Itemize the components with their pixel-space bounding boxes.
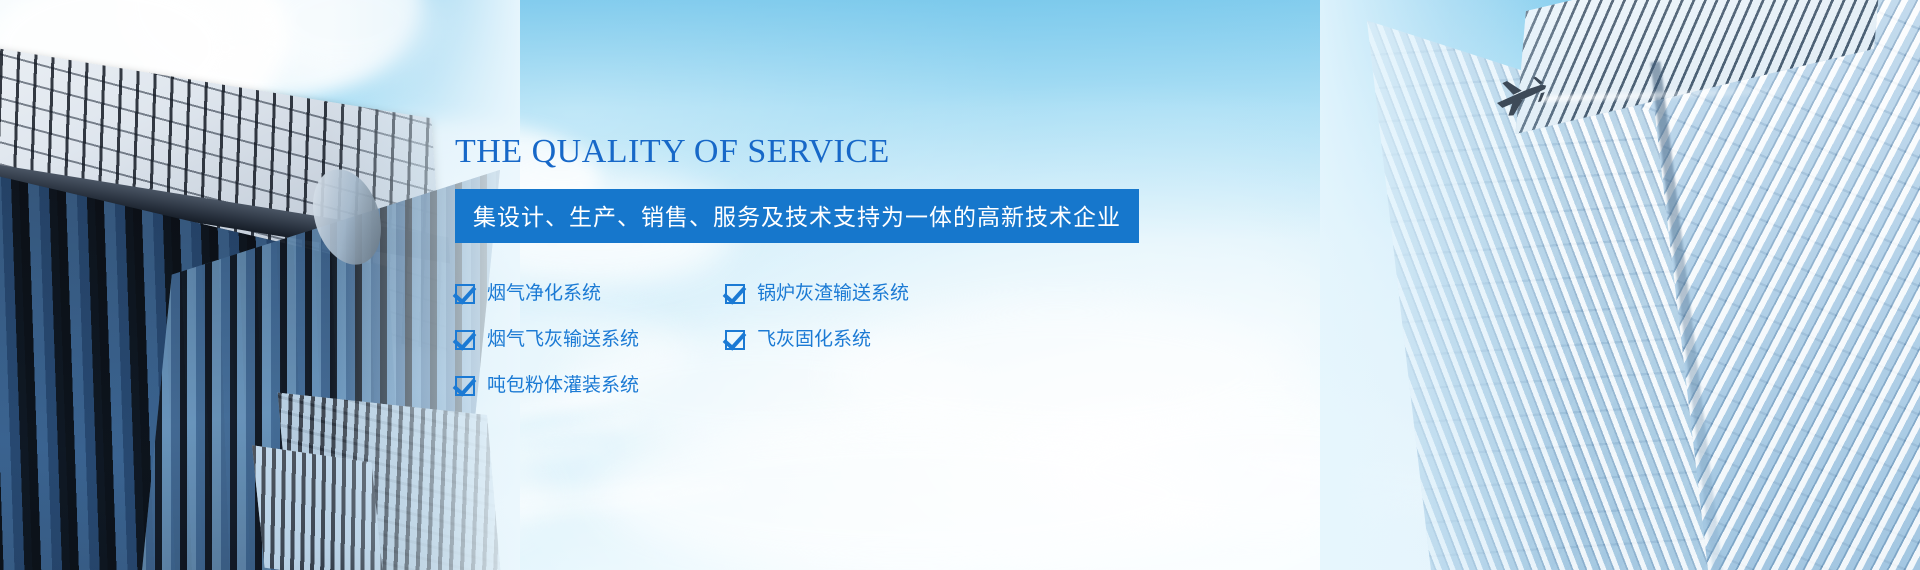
- airplane-group: [1490, 70, 1850, 130]
- service-column-left: 烟气飞灰输送系统: [455, 317, 725, 363]
- service-row: 吨包粉体灌装系统: [455, 363, 1215, 409]
- service-row: 烟气飞灰输送系统 飞灰固化系统: [455, 317, 1215, 363]
- headline-english: THE QUALITY OF SERVICE: [455, 132, 1215, 173]
- left-skyscraper: [0, 0, 460, 570]
- checkbox-checked-icon: [455, 376, 475, 396]
- service-item-label: 飞灰固化系统: [757, 330, 871, 349]
- service-item-label: 烟气飞灰输送系统: [487, 330, 639, 349]
- hero-banner: THE QUALITY OF SERVICE 集设计、生产、销售、服务及技术支持…: [0, 0, 1920, 570]
- service-item[interactable]: 烟气净化系统: [455, 271, 725, 317]
- service-item[interactable]: 飞灰固化系统: [725, 317, 1025, 363]
- service-item[interactable]: 烟气飞灰输送系统: [455, 317, 725, 363]
- service-list: 烟气净化系统 锅炉灰渣输送系统 烟气飞灰输送系统: [455, 271, 1215, 409]
- service-item-label: 烟气净化系统: [487, 284, 601, 303]
- checkbox-checked-icon: [725, 330, 745, 350]
- checkbox-checked-icon: [725, 284, 745, 304]
- service-row: 烟气净化系统 锅炉灰渣输送系统: [455, 271, 1215, 317]
- service-column-right: 飞灰固化系统: [725, 317, 1025, 363]
- banner-content: THE QUALITY OF SERVICE 集设计、生产、销售、服务及技术支持…: [455, 132, 1215, 409]
- checkbox-checked-icon: [455, 284, 475, 304]
- service-column-left: 烟气净化系统: [455, 271, 725, 317]
- service-item-label: 锅炉灰渣输送系统: [757, 284, 909, 303]
- contrail: [1542, 87, 1802, 101]
- service-column-right: [725, 363, 1025, 409]
- ribbon-tagline: 集设计、生产、销售、服务及技术支持为一体的高新技术企业: [455, 189, 1139, 243]
- service-column-left: 吨包粉体灌装系统: [455, 363, 725, 409]
- service-item-label: 吨包粉体灌装系统: [487, 376, 639, 395]
- service-item[interactable]: 吨包粉体灌装系统: [455, 363, 725, 409]
- service-item[interactable]: 锅炉灰渣输送系统: [725, 271, 1025, 317]
- airplane-icon: [1486, 69, 1556, 123]
- service-column-right: 锅炉灰渣输送系统: [725, 271, 1025, 317]
- checkbox-checked-icon: [455, 330, 475, 350]
